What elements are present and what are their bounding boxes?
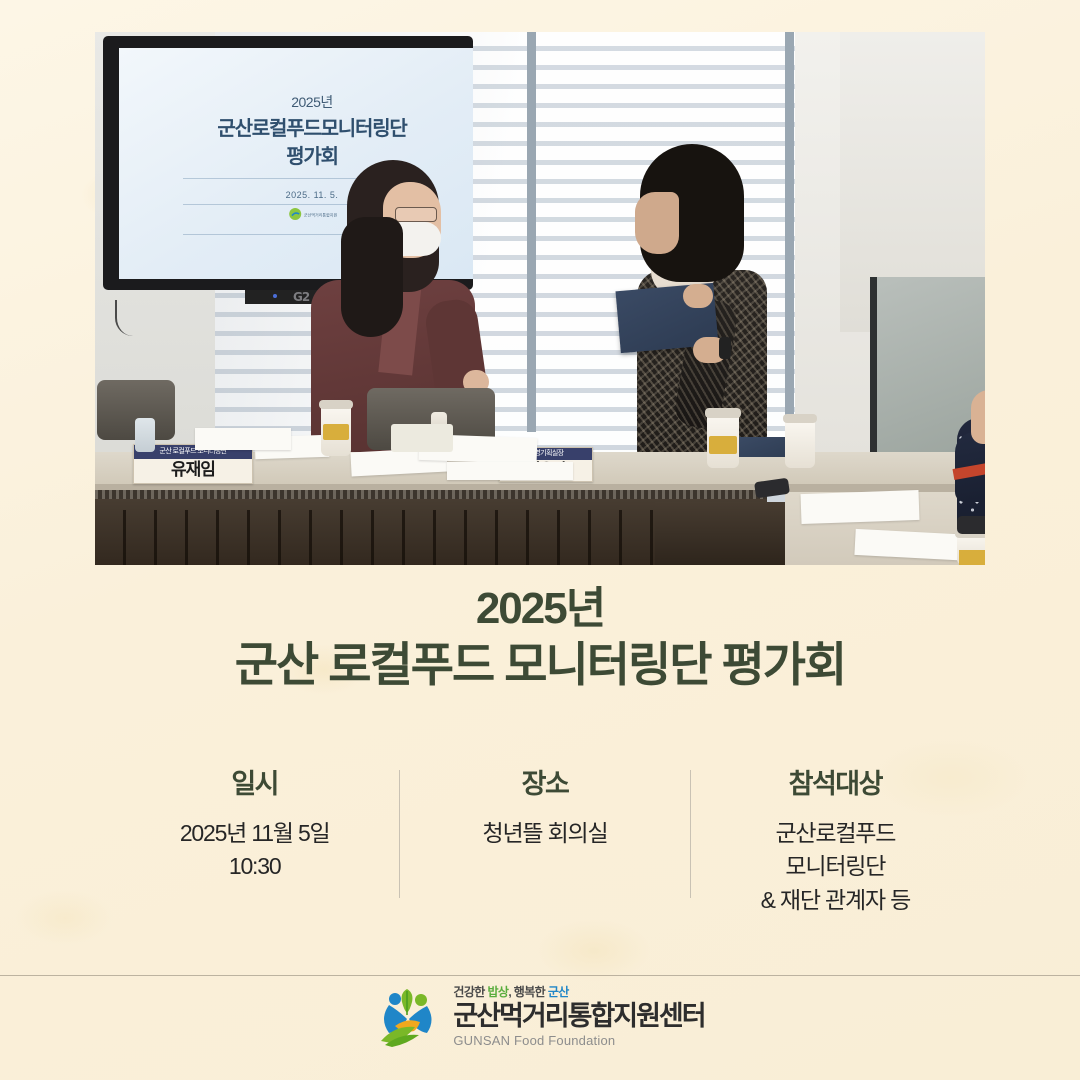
title-line-1: 2025년 [0, 582, 1080, 636]
coffee-cup-right-lid [783, 414, 817, 423]
coffee-cup-foreground-sleeve [959, 550, 985, 565]
presenting-person-face [635, 192, 679, 254]
info-heading-participants: 참석대상 [697, 762, 974, 801]
brand-text-block: 건강한 밥상, 행복한 군산 군산먹거리통합지원센터 GUNSAN Food F… [453, 986, 704, 1047]
presenter-hair-side [341, 217, 403, 337]
document-right [801, 490, 920, 524]
presenter-glasses-icon [395, 207, 437, 222]
table-panel-trim [95, 490, 767, 499]
info-value-place: 청년뜰 회의실 [406, 817, 683, 850]
info-value-date-line-2: 10:30 [116, 850, 393, 883]
window-frame-right [785, 32, 794, 462]
window-frame-left [527, 32, 536, 432]
brand-name-english: GUNSAN Food Foundation [453, 1034, 704, 1047]
footer-divider [0, 975, 1080, 976]
slide-subtitle: 평가회 [135, 140, 489, 169]
slide-year: 2025년 [135, 92, 489, 112]
attendee-hands [971, 390, 985, 444]
brand-name: 군산먹거리통합지원센터 [453, 1003, 704, 1030]
table-panel-secondary [655, 502, 785, 565]
info-value-date-line-1: 2025년 11월 5일 [116, 817, 393, 850]
nameplate-left-name: 유재임 [134, 459, 252, 481]
wristwatch [719, 337, 731, 359]
document-front [447, 462, 573, 480]
svg-text:군산먹거리통합지원센터: 군산먹거리통합지원센터 [304, 211, 337, 217]
tissue-box [391, 424, 453, 452]
info-value-participants-line-2: 모니터링단 [697, 850, 974, 883]
slide-title: 군산로컬푸드모니터링단 [135, 112, 489, 141]
document-far-left [195, 428, 291, 450]
poster-card: 2025년 군산로컬푸드모니터링단 평가회 2025. 11. 5. 군산먹거리… [0, 0, 1080, 1080]
meeting-photo: 2025년 군산로컬푸드모니터링단 평가회 2025. 11. 5. 군산먹거리… [95, 32, 985, 565]
footer-brand: 건강한 밥상, 행복한 군산 군산먹거리통합지원센터 GUNSAN Food F… [0, 985, 1080, 1047]
monitor-brand-label: G2 [293, 290, 309, 304]
monitor-power-led-icon [273, 294, 277, 298]
brand-tagline-highlight2: 군산 [548, 985, 569, 999]
title-line-2: 군산 로컬푸드 모니터링단 평가회 [0, 636, 1080, 693]
bottle-left [135, 418, 155, 452]
coffee-cup-center-sleeve [709, 436, 737, 454]
smartphone-right [957, 516, 985, 534]
slide-logo-icon: 군산먹거리통합지원센터 [287, 206, 337, 222]
foundation-logo-icon [375, 985, 439, 1047]
info-heading-date: 일시 [116, 762, 393, 801]
coffee-cup-right [785, 418, 815, 468]
info-column-place: 장소 청년뜰 회의실 [400, 762, 689, 850]
brand-tagline-highlight1: 밥상 [487, 985, 508, 999]
page-title: 2025년 군산 로컬푸드 모니터링단 평가회 [0, 582, 1080, 693]
info-column-date: 일시 2025년 11월 5일 10:30 [110, 762, 399, 884]
info-column-participants: 참석대상 군산로컬푸드 모니터링단 & 재단 관계자 등 [691, 762, 980, 917]
coffee-cup-left-lid [319, 400, 353, 409]
info-value-participants-line-1: 군산로컬푸드 [697, 817, 974, 850]
brand-tagline: 건강한 밥상, 행복한 군산 [453, 986, 704, 998]
info-value-participants-line-3: & 재단 관계자 등 [697, 884, 974, 917]
monitor-cable [115, 300, 157, 336]
event-info: 일시 2025년 11월 5일 10:30 장소 청년뜰 회의실 참석대상 군산… [110, 762, 980, 912]
brand-tagline-part1: 건강한 [453, 985, 487, 999]
info-heading-place: 장소 [406, 762, 683, 801]
coffee-cup-center-lid [705, 408, 741, 418]
presenting-person-hand-upper [683, 284, 713, 308]
coffee-cup-left-sleeve [323, 424, 349, 440]
brand-tagline-part2: , 행복한 [508, 985, 548, 999]
